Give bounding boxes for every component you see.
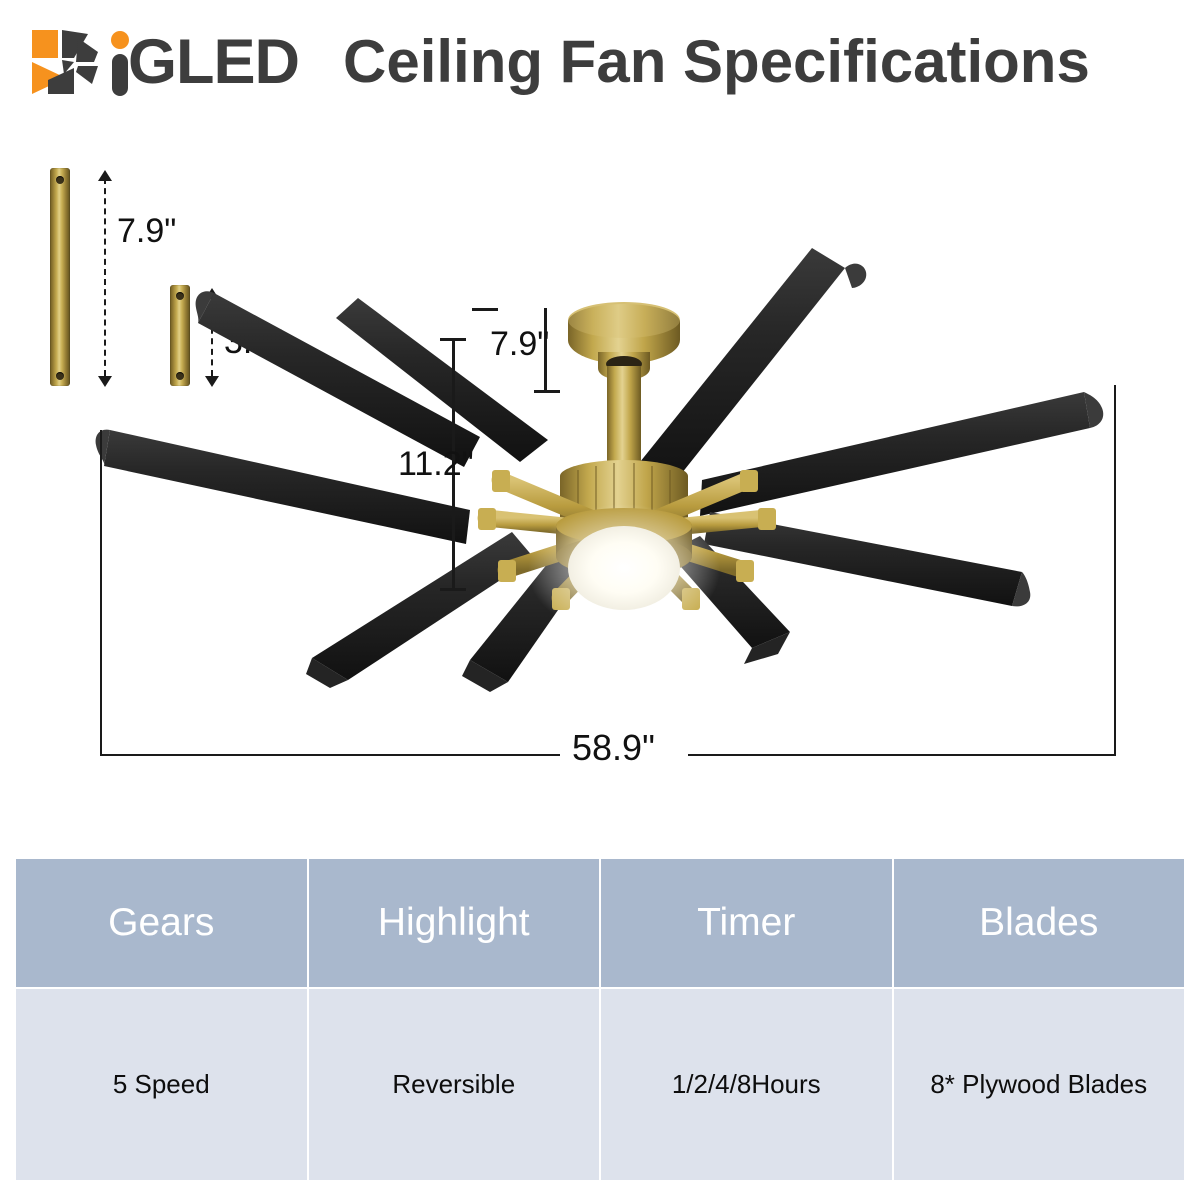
- table-header-gears: Gears: [16, 859, 307, 987]
- motor-height-dim-label: 7.9": [490, 325, 549, 364]
- motor-height-tick-bottom: [534, 390, 560, 393]
- table-cell-gears: 5 Speed: [16, 989, 307, 1180]
- shutter-aperture-icon: [30, 28, 102, 96]
- page-title: Ceiling Fan Specifications: [343, 28, 1090, 96]
- motor-depth-tick-bottom: [440, 588, 466, 591]
- page-header: GLED Ceiling Fan Specifications: [0, 0, 1200, 130]
- table-header-timer: Timer: [601, 859, 892, 987]
- fan-light-lens: [568, 526, 680, 610]
- table-header-blades: Blades: [894, 859, 1185, 987]
- motor-depth-tick-top: [440, 338, 466, 341]
- motor-depth-dim-label: 11.2": [398, 445, 474, 484]
- motor-height-tick-top: [472, 308, 498, 311]
- table-cell-highlight: Reversible: [309, 989, 600, 1180]
- specifications-table: Gears Highlight Timer Blades 5 Speed Rev…: [14, 857, 1186, 1182]
- ceiling-fan-spec-page: GLED Ceiling Fan Specifications 7.9" 3.9…: [0, 0, 1200, 1200]
- blade-span-dim-label: 58.9": [572, 727, 655, 769]
- fan-illustration: [0, 140, 1200, 820]
- span-dim-line-right: [688, 754, 1116, 756]
- logo-wordmark: GLED: [128, 28, 299, 96]
- table-header-row: Gears Highlight Timer Blades: [16, 859, 1184, 987]
- table-cell-blades: 8* Plywood Blades: [894, 989, 1185, 1180]
- span-right-extension-line: [1114, 385, 1116, 756]
- fan-blade: [700, 392, 1103, 516]
- fan-downrod: [607, 366, 641, 476]
- table-cell-timer: 1/2/4/8Hours: [601, 989, 892, 1180]
- span-left-extension-line: [100, 430, 102, 756]
- table-header-highlight: Highlight: [309, 859, 600, 987]
- table-row: 5 Speed Reversible 1/2/4/8Hours 8* Plywo…: [16, 989, 1184, 1180]
- span-dim-line-left: [100, 754, 560, 756]
